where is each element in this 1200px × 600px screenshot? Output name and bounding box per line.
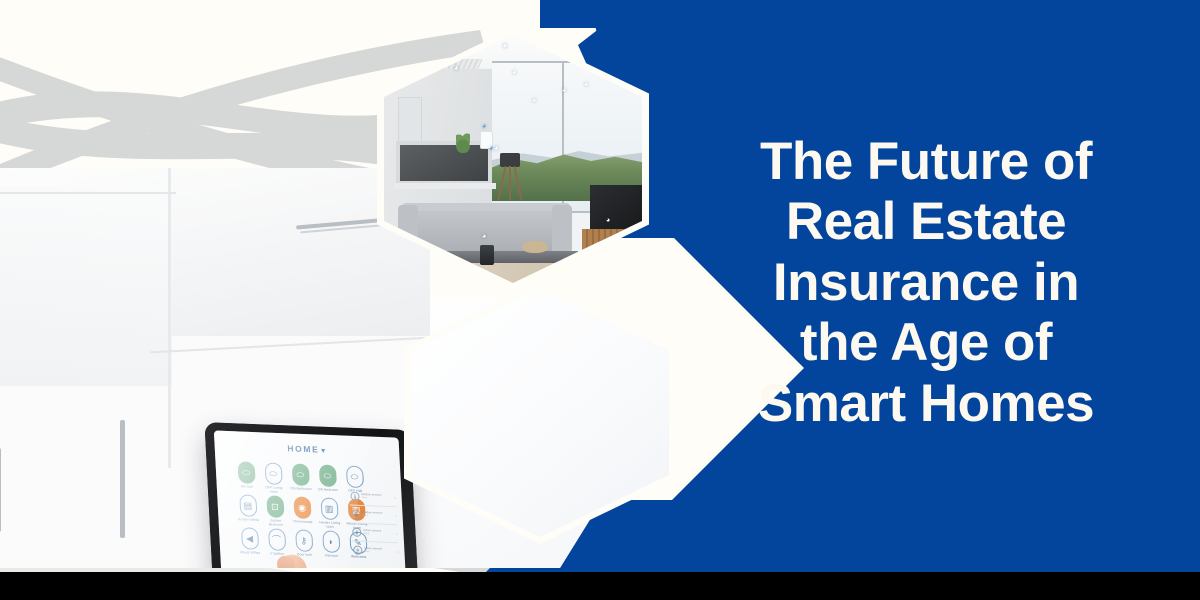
wifi-icon: ◕ — [584, 81, 588, 88]
device-label: Music Wifies — [238, 550, 262, 555]
page-title: The Future of Real Estate Insurance in t… — [676, 132, 1176, 434]
lock-icon: ⚷ — [295, 530, 313, 553]
device-label: ON Hall — [235, 484, 259, 489]
device-row: ⬭ ON Hall ⬭ OFF Living room ⬭ ON Bathroo… — [233, 461, 367, 497]
humidity-icon: ❊ — [351, 510, 361, 519]
wifi-icon: ◕ — [482, 233, 486, 240]
device-tile[interactable]: ⊡ Socket Bedroom — [262, 495, 288, 527]
cabinet-handle — [0, 448, 1, 532]
wifi-icon: ◕ — [502, 41, 507, 50]
chevron-right-icon[interactable]: › — [396, 531, 398, 536]
title-line: the Age of — [676, 313, 1176, 373]
intercom-icon: ◗ — [322, 531, 340, 554]
smart-speaker — [480, 245, 494, 265]
wifi-icon: ◕ — [494, 145, 498, 152]
wifi-icon: ◕ — [532, 97, 536, 104]
list-item[interactable]: 🌡 Outdoor sensors Temp › — [349, 488, 396, 507]
device-label: Thermostats — [291, 519, 315, 524]
chevron-right-icon[interactable]: › — [397, 549, 399, 554]
thermometer-icon: 🌡 — [352, 528, 362, 537]
bottom-bar — [0, 572, 1200, 600]
device-label: OFF Living room — [262, 485, 287, 494]
wifi-icon: ◕ — [489, 145, 493, 152]
fireplace-niche — [396, 141, 492, 185]
heater-icon: ▥ — [320, 498, 338, 521]
bulb-icon: ⬭ — [237, 461, 255, 484]
device-label: Screen blinds — [236, 517, 260, 522]
bulb-icon: ⬭ — [291, 463, 309, 486]
title-line: The Future of — [676, 132, 1176, 192]
tablet-home-label: HOME — [287, 443, 320, 454]
device-tile[interactable]: ▥ Heater Living room — [317, 497, 343, 529]
device-tile[interactable]: ▤ Screen blinds — [235, 494, 261, 526]
device-tile[interactable]: ◉ Thermostats — [289, 496, 315, 528]
device-tile[interactable]: ⚷ Door lock — [291, 530, 317, 558]
chevron-down-icon[interactable]: ▾ — [321, 448, 327, 455]
device-label: Heater Living room — [318, 520, 343, 529]
wifi-icon: ◕ — [482, 123, 486, 130]
banner-graphic: HOME▾ ⬭ ON Hall ⬭ OFF Living room — [0, 0, 1200, 600]
title-line: Smart Homes — [676, 374, 1176, 434]
device-tile[interactable]: ◗ Intercom — [318, 531, 344, 559]
socket-icon: ⊡ — [266, 496, 284, 519]
wifi-icon: ◕ — [512, 69, 516, 76]
speaker-icon: ◀ — [240, 528, 258, 551]
tripod-lamp — [496, 153, 522, 199]
chevron-right-icon[interactable]: › — [394, 495, 396, 500]
bulb-icon: ⬭ — [264, 462, 282, 485]
blinds-icon: ▤ — [239, 494, 257, 517]
device-label: Socket Bedroom — [264, 518, 289, 527]
wifi-icon: ◕ — [606, 217, 610, 224]
coffee-table — [442, 251, 578, 263]
list-item[interactable]: ❊ Outdoor sensors Hum › — [350, 505, 397, 525]
device-label: ON Bedroom — [316, 487, 340, 492]
plant — [456, 131, 470, 153]
thermometer-icon: 🌡 — [350, 492, 360, 501]
cabinet-handle — [120, 420, 125, 538]
device-tile[interactable]: ⬭ ON Bathroom — [288, 463, 314, 495]
device-tile[interactable]: ⬭ ON Hall — [233, 461, 259, 493]
sensor-list: 🌡 Outdoor sensors Temp › ❊ Outdoor senso… — [349, 488, 399, 561]
title-line: Insurance in — [676, 253, 1176, 313]
humidity-icon: ❊ — [353, 545, 363, 554]
white-wall-photo — [411, 289, 669, 537]
tablet-home-header[interactable]: HOME▾ — [214, 441, 399, 458]
bulb-icon: ⬭ — [345, 465, 363, 488]
bulb-icon: ⬭ — [318, 464, 336, 487]
device-label: Intercom — [319, 554, 343, 559]
title-line: Real Estate — [676, 192, 1176, 252]
chevron-right-icon[interactable]: › — [395, 513, 397, 518]
device-tile[interactable]: ⌒ Irrigation — [264, 529, 290, 557]
wifi-icon: ◕ — [454, 65, 458, 72]
device-label: ON Bathroom — [289, 486, 313, 491]
thermostat-icon: ◉ — [293, 497, 311, 520]
living-room-photo: ◕ ◕ ◕ ◕ ◕ ◕ ◕ ◕ ◕ ◕ ◕ — [384, 35, 642, 283]
device-tile[interactable]: ◀ Music Wifies — [237, 528, 263, 556]
device-tile[interactable]: ⬭ OFF Living room — [261, 462, 287, 494]
wifi-icon: ◕ — [562, 87, 566, 94]
list-item[interactable]: ❊ Indoor sensors Hum › — [352, 540, 399, 560]
irrigation-icon: ⌒ — [268, 529, 286, 552]
device-tile[interactable]: ⬭ ON Bedroom — [315, 464, 341, 496]
list-item[interactable]: 🌡 Indoor sensors Temp › — [351, 522, 398, 542]
